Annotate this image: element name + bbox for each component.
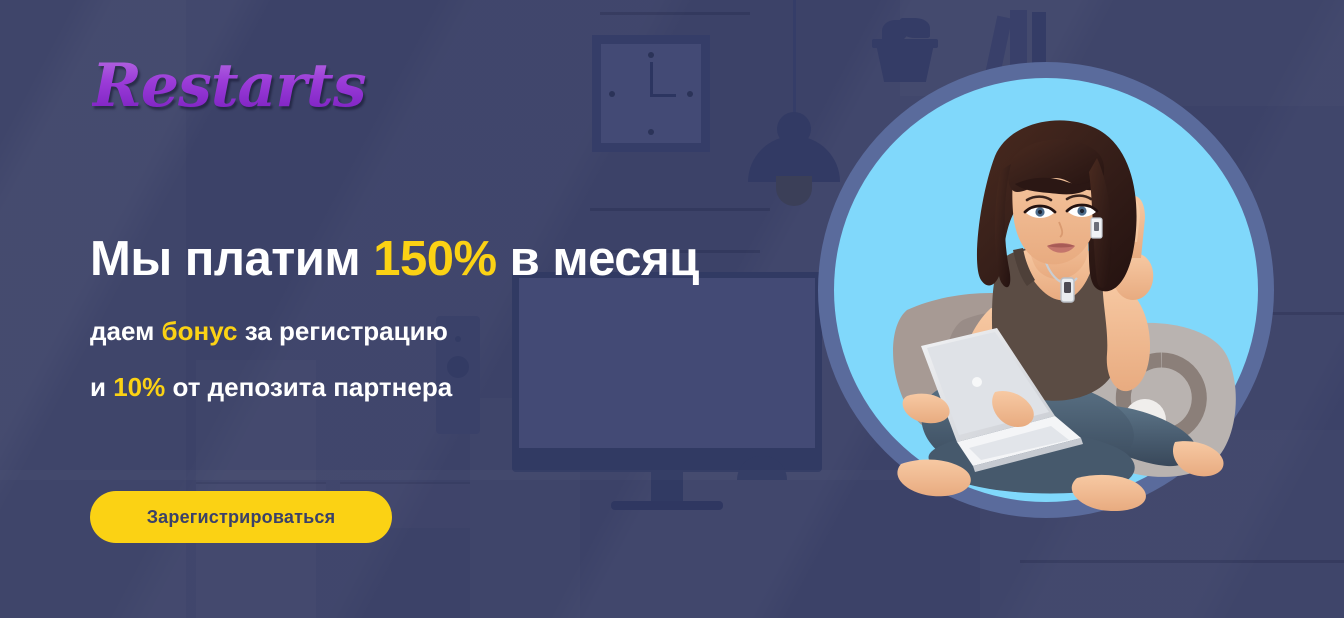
clock-pip-left [609,91,615,97]
sub1-accent-bonus: бонус [162,316,238,346]
wall-line-1 [600,12,750,15]
headline-after: в месяц [497,232,699,286]
headline-before: Мы платим [90,232,373,286]
page-title: Мы платим 150% в месяц [90,234,740,286]
clock-pip-bottom [648,129,654,135]
subheadline-bonus: даем бонус за регистрацию [90,318,740,344]
potted-plant-icon [872,14,938,82]
clock-pip-right [687,91,693,97]
woman-with-laptop-illustration [845,92,1265,552]
headline-accent-rate: 150% [373,232,496,286]
lamp-bulb [776,176,812,206]
register-button[interactable]: Зарегистрироваться [90,491,392,543]
pendant-lamp-icon [748,118,840,210]
plant-pot [876,44,934,82]
lamp-cord [793,0,796,118]
sub1-before: даем [90,316,162,346]
hero-copy: Мы платим 150% в месяц даем бонус за рег… [90,234,740,400]
wall-line-2 [590,208,770,211]
sub1-after: за регистрацию [237,316,447,346]
sub2-before: и [90,372,113,402]
wall-clock-icon [592,35,710,152]
subheadline-referral: и 10% от депозита партнера [90,374,740,400]
desk-surface [0,470,900,480]
sub2-after: от депозита партнера [165,372,452,402]
sub2-accent-percent: 10% [113,372,165,402]
clock-pip-top [648,52,654,58]
clock-hand-minute [650,62,653,95]
plant-leaf-right [900,18,930,38]
monitor-stand-base [611,501,723,510]
clock-hand-hour [650,94,676,97]
hero-banner: Restarts Мы платим 150% в месяц даем бон… [0,0,1344,618]
brand-logo[interactable]: Restarts [92,56,366,116]
wall-line-6 [1020,560,1344,563]
